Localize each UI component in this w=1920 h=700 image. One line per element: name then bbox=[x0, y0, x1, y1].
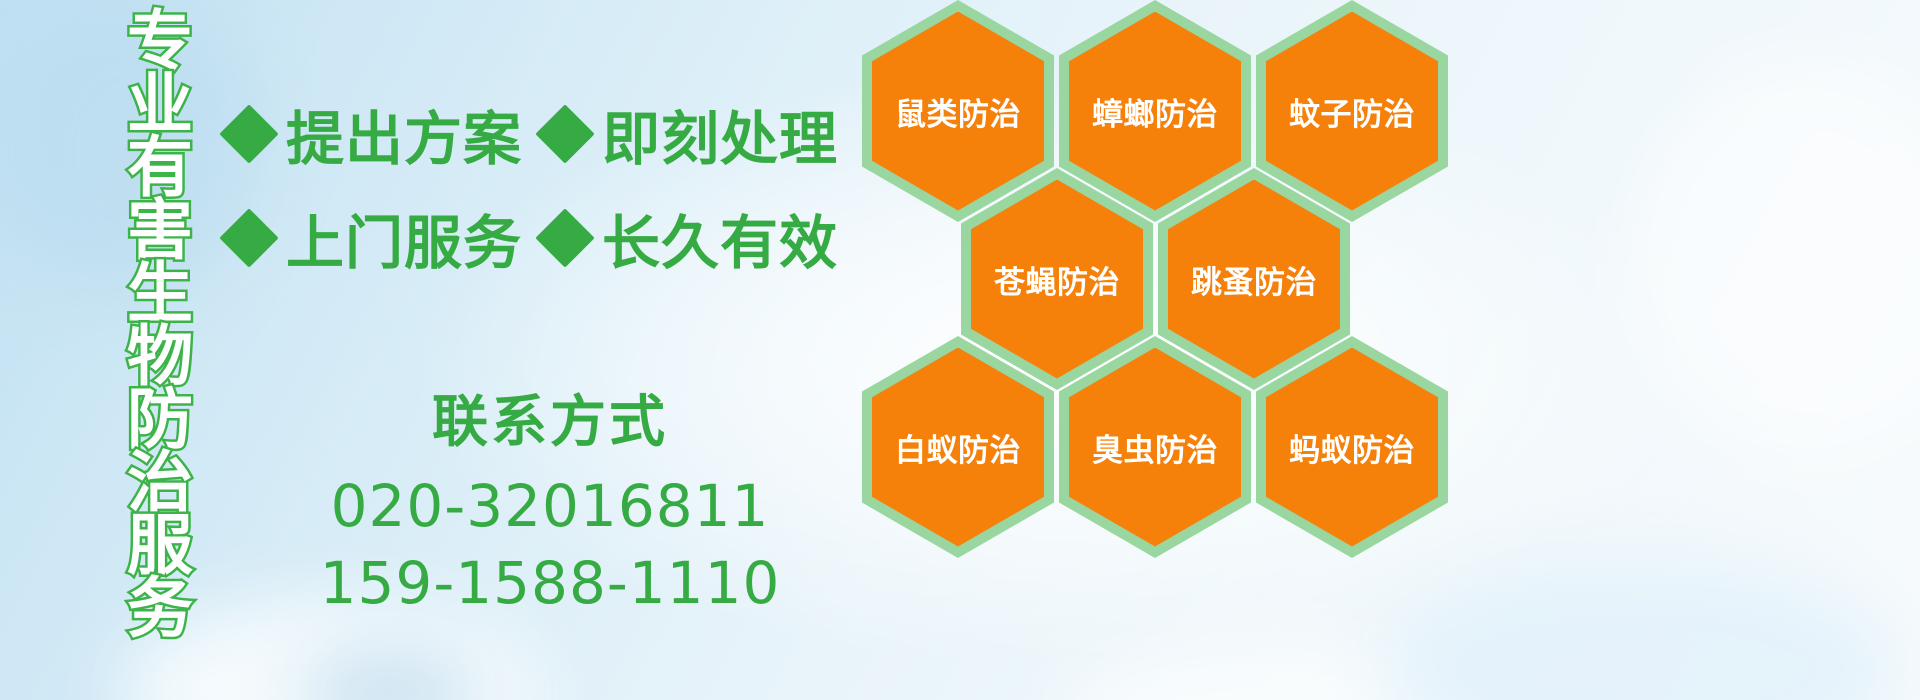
diamond-bullet-icon bbox=[219, 208, 278, 267]
feature-label: 上门服务 bbox=[286, 196, 522, 280]
vertical-headline-char: 害 bbox=[127, 199, 193, 262]
background-blur-blob bbox=[300, 648, 480, 700]
hexagon-inner: 鼠类防治 bbox=[872, 12, 1044, 211]
service-label: 蚊子防治 bbox=[1289, 89, 1415, 134]
hexagon-inner: 蚊子防治 bbox=[1266, 12, 1438, 211]
contact-block: 联系方式 020-32016811 159-1588-1110 bbox=[300, 390, 800, 621]
feature-label: 即刻处理 bbox=[602, 92, 838, 176]
service-label: 鼠类防治 bbox=[895, 89, 1021, 134]
diamond-bullet-icon bbox=[219, 104, 278, 163]
feature-row: 提出方案 即刻处理 bbox=[228, 82, 868, 186]
service-label: 臭虫防治 bbox=[1092, 425, 1218, 470]
service-label: 蚂蚁防治 bbox=[1289, 425, 1415, 470]
hexagon-inner: 跳蚤防治 bbox=[1168, 180, 1340, 379]
hexagon-inner: 蚂蚁防治 bbox=[1266, 348, 1438, 547]
service-label: 跳蚤防治 bbox=[1191, 257, 1317, 302]
contact-phone-landline[interactable]: 020-32016811 bbox=[300, 468, 800, 545]
vertical-headline-char: 物 bbox=[127, 325, 193, 388]
feature-list: 提出方案 即刻处理 上门服务 长久有效 bbox=[228, 82, 868, 290]
service-label: 白蚁防治 bbox=[895, 425, 1021, 470]
background-blur-blob bbox=[1060, 640, 1480, 700]
vertical-headline-char: 务 bbox=[127, 577, 193, 640]
diamond-bullet-icon bbox=[535, 104, 594, 163]
feature-label: 长久有效 bbox=[602, 196, 838, 280]
feature-label: 提出方案 bbox=[286, 92, 522, 176]
vertical-headline: 专 业 有 害 生 物 防 治 服 务 bbox=[108, 10, 212, 570]
service-honeycomb-grid: 鼠类防治 蟑螂防治 蚊子防治 苍蝇防治 跳蚤防治 白蚁防治 bbox=[862, 0, 1462, 558]
feature-row: 上门服务 长久有效 bbox=[228, 186, 868, 290]
pest-control-service-banner: 专 业 有 害 生 物 防 治 服 务 提出方案 即刻处理 上门服务 bbox=[0, 0, 1920, 700]
vertical-headline-char: 业 bbox=[127, 73, 193, 136]
background-blur-blob bbox=[1380, 560, 1900, 700]
service-label: 苍蝇防治 bbox=[994, 257, 1120, 302]
contact-phone-mobile[interactable]: 159-1588-1110 bbox=[300, 545, 800, 622]
hexagon-inner: 臭虫防治 bbox=[1069, 348, 1241, 547]
background-blur-blob bbox=[1630, 60, 1920, 460]
feature-item-long-lasting: 长久有效 bbox=[544, 196, 838, 280]
feature-item-propose-plan: 提出方案 bbox=[228, 92, 522, 176]
hexagon-inner: 蟑螂防治 bbox=[1069, 12, 1241, 211]
diamond-bullet-icon bbox=[535, 208, 594, 267]
feature-item-onsite-service: 上门服务 bbox=[228, 196, 522, 280]
hexagon-inner: 白蚁防治 bbox=[872, 348, 1044, 547]
vertical-headline-char: 防 bbox=[127, 388, 193, 451]
vertical-headline-char: 专 bbox=[127, 10, 193, 73]
hexagon-inner: 苍蝇防治 bbox=[971, 180, 1143, 379]
vertical-headline-char: 生 bbox=[127, 262, 193, 325]
vertical-headline-char: 服 bbox=[127, 514, 193, 577]
vertical-headline-char: 有 bbox=[127, 136, 193, 199]
feature-item-immediate-handling: 即刻处理 bbox=[544, 92, 838, 176]
vertical-headline-char: 治 bbox=[127, 451, 193, 514]
service-label: 蟑螂防治 bbox=[1092, 89, 1218, 134]
contact-title: 联系方式 bbox=[300, 390, 800, 454]
